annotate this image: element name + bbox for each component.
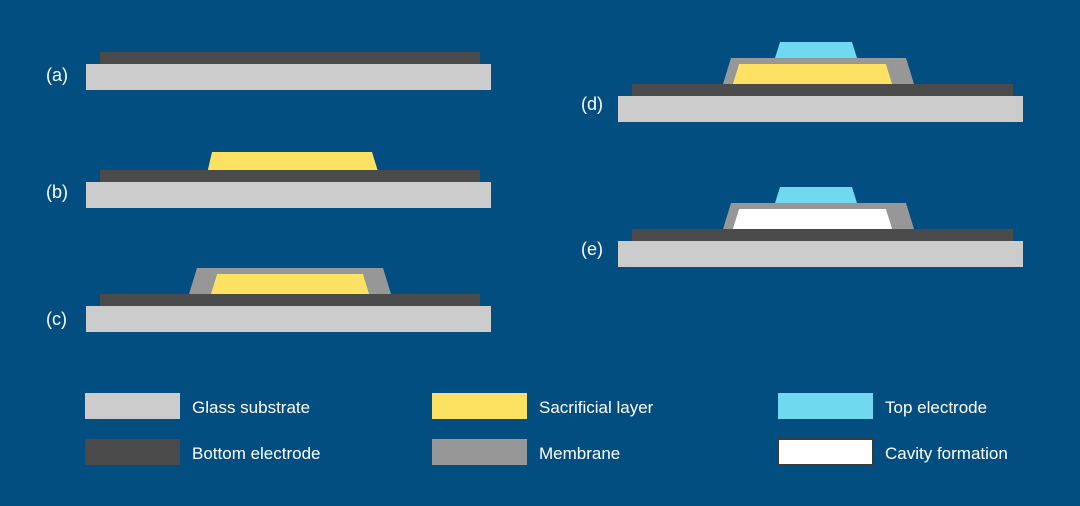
legend-swatch-cavity-formation: [778, 439, 873, 465]
legend-swatch-membrane: [432, 439, 527, 465]
process-flow-figure: (a) (b) (c) (d) (e): [0, 0, 1080, 506]
panel-d-bottom-electrode: [632, 84, 1013, 96]
panel-d-glass-substrate: [618, 96, 1023, 122]
legend-label-cavity-formation: Cavity formation: [885, 444, 1008, 463]
legend-swatch-top-electrode: [778, 393, 873, 419]
panel-a-glass-substrate: [86, 64, 491, 90]
panel-d-label: (d): [581, 94, 603, 114]
panel-a-label: (a): [46, 65, 68, 85]
panel-e-glass-substrate: [618, 241, 1023, 267]
panel-b-glass-substrate: [86, 182, 491, 208]
panel-c-bottom-electrode: [100, 294, 480, 306]
panel-b-bottom-electrode: [100, 170, 480, 182]
panel-c-glass-substrate: [86, 306, 491, 332]
legend-label-glass-substrate: Glass substrate: [192, 398, 310, 417]
legend-swatch-glass-substrate: [85, 393, 180, 419]
legend-label-bottom-electrode: Bottom electrode: [192, 444, 321, 463]
legend-swatch-bottom-electrode: [85, 439, 180, 465]
panel-e-label: (e): [581, 239, 603, 259]
panel-a-bottom-electrode: [100, 52, 480, 64]
legend-label-top-electrode: Top electrode: [885, 398, 987, 417]
legend-label-sacrificial-layer: Sacrificial layer: [539, 398, 654, 417]
panel-a: (a): [46, 52, 491, 90]
panel-d-top-electrode: [775, 42, 857, 58]
panel-c-label: (c): [46, 309, 67, 329]
panel-e-bottom-electrode: [632, 229, 1013, 241]
panel-b-label: (b): [46, 182, 68, 202]
legend-swatch-sacrificial-layer: [432, 393, 527, 419]
legend-label-membrane: Membrane: [539, 444, 620, 463]
panel-e-top-electrode: [775, 187, 857, 203]
